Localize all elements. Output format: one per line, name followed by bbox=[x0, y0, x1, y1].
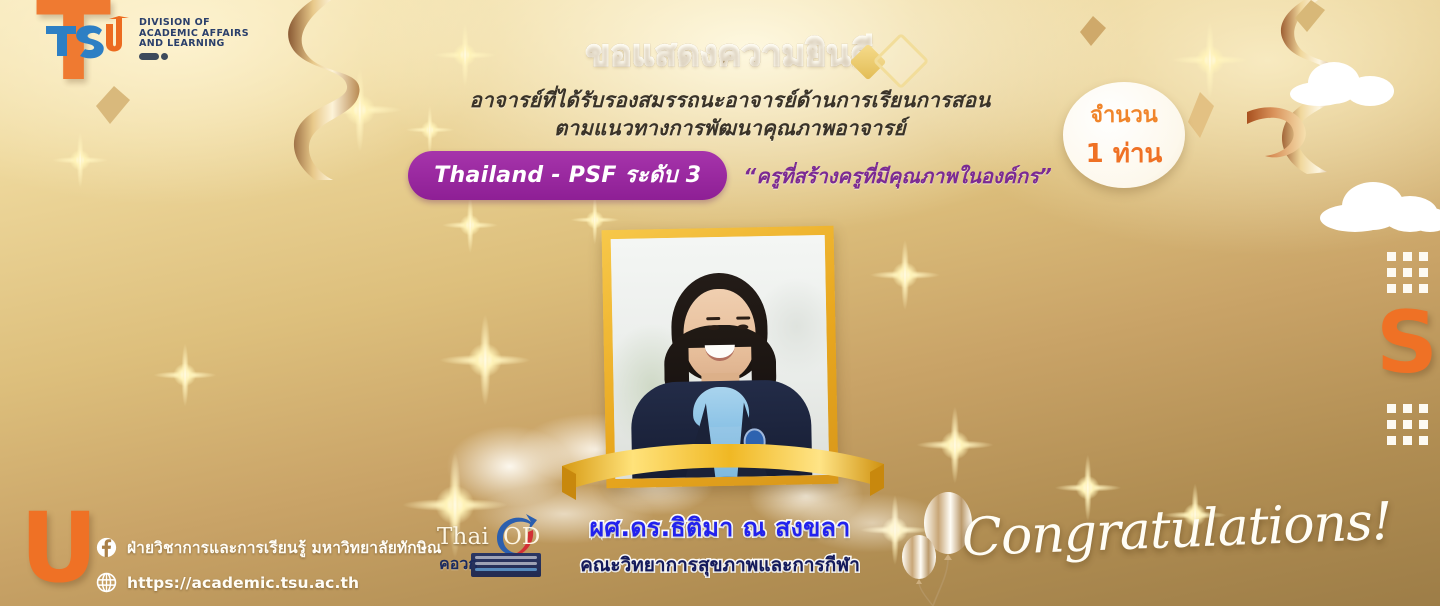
count-badge: จำนวน 1 ท่าน bbox=[1063, 82, 1185, 188]
tsu-logo-icon bbox=[44, 16, 130, 62]
website-url: https://academic.tsu.ac.th bbox=[127, 574, 359, 592]
footer-contacts: ฝ่ายวิชาการและการเรียนรู้ มหาวิทยาลัยทัก… bbox=[96, 535, 441, 593]
sparkle-decor bbox=[420, 295, 550, 425]
count-value: 1 ท่าน bbox=[1086, 133, 1163, 174]
page-title: ขอแสดงความยินดี bbox=[586, 26, 874, 81]
dot-grid-decor bbox=[1387, 252, 1428, 293]
globe-icon bbox=[96, 572, 117, 593]
ribbon-streamer-left bbox=[275, 0, 405, 180]
tag-row: Thailand - PSF ระดับ 3 “ครูที่สร้างครูที… bbox=[400, 151, 1060, 200]
facebook-icon bbox=[96, 537, 117, 558]
confetti-piece bbox=[1186, 92, 1216, 138]
count-label: จำนวน bbox=[1090, 97, 1158, 132]
cloud-decor bbox=[1320, 178, 1440, 232]
tsu-division-text: DIVISION OF ACADEMIC AFFAIRS AND LEARNIN… bbox=[139, 18, 249, 60]
sparkle-decor bbox=[140, 330, 230, 420]
tsu-logo: DIVISION OF ACADEMIC AFFAIRS AND LEARNIN… bbox=[44, 16, 249, 62]
motto-text: “ครูที่สร้างครูที่มีคุณภาพในองค์กร” bbox=[743, 160, 1051, 192]
honoree-name: ผศ.ดร.ธิติมา ณ สงขลา bbox=[520, 508, 920, 548]
cloud-decor bbox=[1290, 60, 1400, 104]
diamond-outline-icon bbox=[873, 33, 930, 90]
portrait-frame bbox=[602, 226, 839, 488]
thaipod-od-text: OD bbox=[503, 524, 540, 550]
congratulations-banner: S U T DIVISION OF ACADEMIC AFFAIRS AND L… bbox=[0, 0, 1440, 606]
confetti-piece bbox=[96, 86, 130, 124]
thaipod-logo: Thai OD คอวก bbox=[437, 508, 545, 590]
honoree-name-block: ผศ.ดร.ธิติมา ณ สงขลา คณะวิทยาการสุขภาพแล… bbox=[520, 508, 920, 580]
subtitle-line-2: ตามแนวทางการพัฒนาคุณภาพอาจารย์ bbox=[400, 115, 1060, 142]
confetti-piece bbox=[1295, 0, 1325, 32]
decor-letter-s: S bbox=[1376, 300, 1438, 386]
logo-pill-decor bbox=[139, 53, 249, 60]
facebook-contact-row[interactable]: ฝ่ายวิชาการและการเรียนรู้ มหาวิทยาลัยทัก… bbox=[96, 535, 441, 560]
psf-level-badge: Thailand - PSF ระดับ 3 bbox=[408, 151, 727, 200]
thaipod-main-text: Thai bbox=[437, 524, 489, 550]
portrait-photo bbox=[611, 235, 830, 479]
ribbon-streamer-right bbox=[1235, 0, 1375, 207]
thaipod-caption-strip bbox=[471, 553, 541, 577]
website-contact-row[interactable]: https://academic.tsu.ac.th bbox=[96, 572, 441, 593]
division-line-3: AND LEARNING bbox=[139, 39, 249, 50]
sparkle-decor bbox=[855, 225, 955, 325]
decor-letter-u: U bbox=[20, 500, 98, 596]
sparkle-decor bbox=[1155, 5, 1265, 115]
sparkle-decor bbox=[40, 120, 120, 200]
honoree-portrait bbox=[604, 228, 836, 486]
honoree-faculty: คณะวิทยาการสุขภาพและการกีฬา bbox=[520, 550, 920, 580]
headline-block: ขอแสดงความยินดี อาจารย์ที่ได้รับรองสมรรถ… bbox=[400, 26, 1060, 200]
subtitle-line-1: อาจารย์ที่ได้รับรองสมรรถนะอาจารย์ด้านการ… bbox=[400, 87, 1060, 114]
facebook-page-name: ฝ่ายวิชาการและการเรียนรู้ มหาวิทยาลัยทัก… bbox=[127, 535, 441, 560]
congratulations-text: Congratulations! bbox=[961, 492, 1393, 568]
dot-grid-decor bbox=[1387, 404, 1428, 445]
sparkle-decor bbox=[900, 390, 1010, 500]
confetti-piece bbox=[1080, 16, 1106, 46]
